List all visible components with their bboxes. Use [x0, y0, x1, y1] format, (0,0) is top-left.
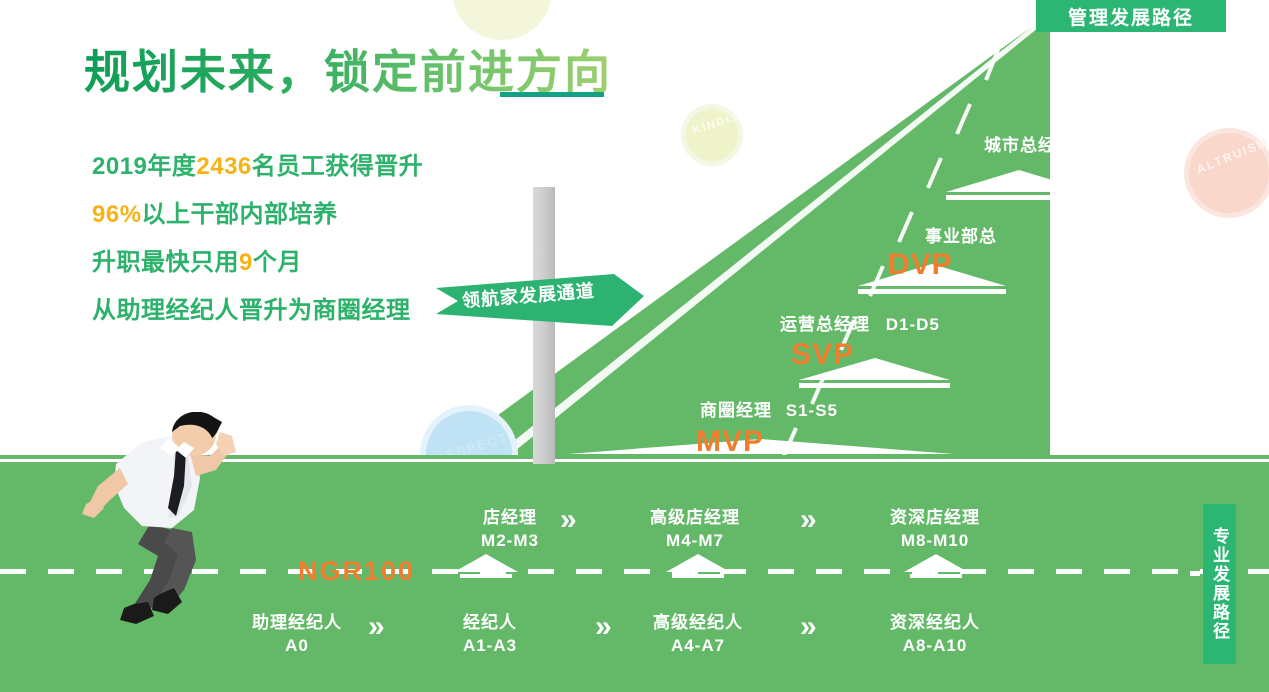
banner-management-path: 管理发展路径	[1036, 0, 1226, 32]
tier-arc-gm	[944, 168, 1094, 202]
stat-text: 个月	[253, 249, 302, 276]
road-dash-segment	[1152, 569, 1178, 574]
role-label-mvp: 商圈经理 S1-S5	[700, 396, 838, 421]
road-dash-segment	[864, 569, 890, 574]
milestone-marker-3	[902, 552, 970, 580]
banner-management-label: 管理发展路径	[1068, 3, 1194, 30]
role-label-svp: 运营总经理 D1-D5	[780, 310, 940, 335]
road-dash-segment	[240, 569, 266, 574]
stat-text: 升职最快只用	[92, 249, 239, 276]
step-principal-store-manager: 资深店经理 M8-M10	[835, 503, 1035, 551]
banner-professional-path: 专业发展路径	[1203, 504, 1236, 664]
badge-mvp: MVP	[696, 425, 764, 459]
milestone-marker-1	[452, 552, 520, 580]
road-dash-segment	[1104, 569, 1130, 574]
banner-right-tick	[1190, 571, 1200, 576]
step-code: M4-M7	[595, 531, 795, 551]
milestone-marker-2	[664, 552, 732, 580]
role-label-gm: 城市总经理 GM	[984, 131, 1119, 156]
chevron-icon-a2: »	[595, 612, 612, 642]
step-title: 资深店经理	[835, 503, 1035, 528]
stat-text: 2019年度	[92, 153, 196, 180]
step-principal-agent: 资深经纪人 A8-A10	[850, 608, 1020, 656]
role-label-dvp: 事业部总	[925, 222, 997, 247]
chevron-icon-m1: »	[560, 505, 577, 535]
step-code: A4-A7	[613, 636, 783, 656]
chevron-icon-a1: »	[368, 612, 385, 642]
infographic-canvas: KINDLY ALTRUISM 规划未来，锁定前进方向 2019年度2436名员…	[0, 0, 1269, 692]
road-dash-segment	[768, 569, 794, 574]
role-title-mvp: 商圈经理	[700, 401, 772, 420]
ngr100-badge: NGR100	[298, 556, 415, 587]
stat-text: 从助理经纪人晋升为商圈经理	[92, 297, 411, 324]
step-title: 资深经纪人	[850, 608, 1020, 633]
chevron-icon-a3: »	[800, 612, 817, 642]
badge-dvp: DVP	[888, 248, 953, 282]
road-dash-segment	[528, 569, 554, 574]
step-title: 高级经纪人	[613, 608, 783, 633]
step-code: A1-A3	[405, 636, 575, 656]
role-title-gm: 城市总经理	[984, 136, 1074, 155]
road-dash-segment	[1008, 569, 1034, 574]
role-code-mvp: S1-S5	[786, 401, 838, 420]
stat-text: 以上干部内部培养	[142, 201, 338, 228]
step-assistant-agent: 助理经纪人 A0	[212, 608, 382, 656]
chevron-icon-m2: »	[800, 505, 817, 535]
step-code: A8-A10	[850, 636, 1020, 656]
banner-professional-label: 专业发展路径	[1207, 527, 1232, 641]
step-senior-store-manager: 高级店经理 M4-M7	[595, 503, 795, 551]
step-title: 店经理	[410, 503, 610, 528]
step-title: 经纪人	[405, 608, 575, 633]
road-dash-segment	[48, 569, 74, 574]
step-agent: 经纪人 A1-A3	[405, 608, 575, 656]
stat-highlight: 2436	[196, 153, 251, 180]
stat-text: 名员工获得晋升	[252, 153, 424, 180]
stat-highlight: 9	[239, 249, 253, 276]
running-businessman-illustration	[76, 412, 236, 642]
step-senior-agent: 高级经纪人 A4-A7	[613, 608, 783, 656]
stat-highlight: 96%	[92, 201, 142, 228]
role-title-svp: 运营总经理	[780, 315, 870, 334]
road-dash-segment	[816, 569, 842, 574]
road-dash-segment	[0, 569, 26, 574]
role-code-gm: GM	[1090, 136, 1119, 155]
step-title: 助理经纪人	[212, 608, 382, 633]
role-title-dvp: 事业部总	[925, 227, 997, 246]
step-code: M2-M3	[410, 531, 610, 551]
badge-svp: SVP	[791, 338, 854, 372]
road-dash-segment	[624, 569, 650, 574]
step-code: M8-M10	[835, 531, 1035, 551]
road-dash-segment	[576, 569, 602, 574]
road-dash-segment	[1056, 569, 1082, 574]
step-title: 高级店经理	[595, 503, 795, 528]
road-dash-segment	[1248, 569, 1269, 574]
step-store-manager: 店经理 M2-M3	[410, 503, 610, 551]
role-code-svp: D1-D5	[886, 315, 940, 334]
step-code: A0	[212, 636, 382, 656]
